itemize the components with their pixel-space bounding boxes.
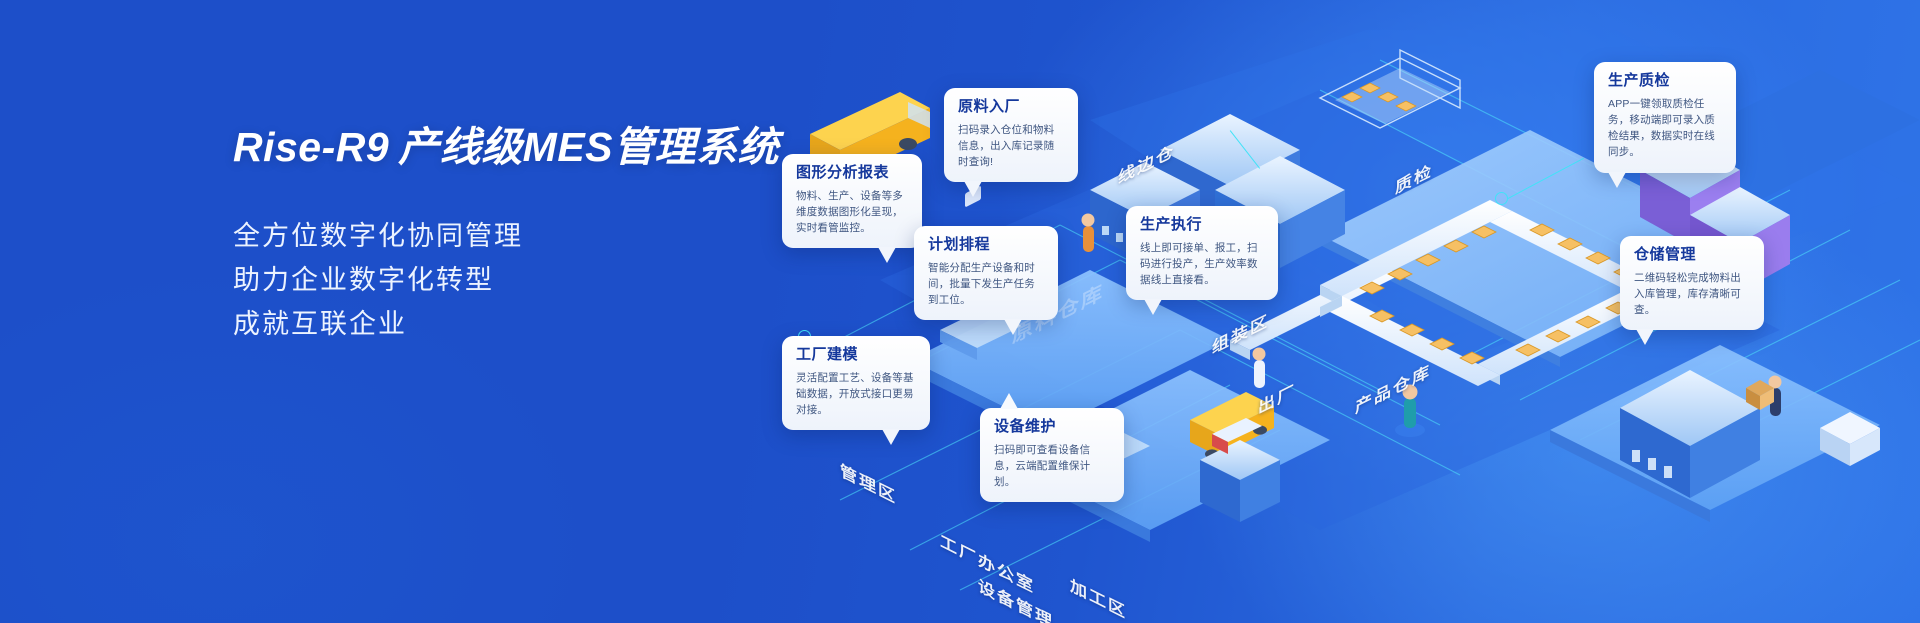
callout-tail-raw-material-inbound [964, 181, 982, 197]
callout-body-production-execution: 线上即可接单、报工，扫码进行投产，生产效率数据线上直接看。 [1140, 240, 1264, 289]
callout-tail-production-execution [1144, 299, 1162, 315]
callout-title-production-execution: 生产执行 [1140, 217, 1264, 234]
callout-graphic-report[interactable]: 图形分析报表 物料、生产、设备等多维度数据图形化呈现，实时看管监控。 [782, 154, 922, 248]
callout-tail-warehouse-management [1636, 329, 1654, 345]
callout-tail-equipment-maintenance [1000, 393, 1018, 409]
callout-title-equipment-maintenance: 设备维护 [994, 419, 1110, 436]
callout-warehouse-management[interactable]: 仓储管理 二维码轻松完成物料出入库管理，库存清晰可查。 [1620, 236, 1764, 330]
headline-latin: Rise-R9 [233, 124, 389, 170]
callout-production-quality-inspection[interactable]: 生产质检 APP一键领取质检任务，移动端即可录入质检结果，数据实时在线同步。 [1594, 62, 1736, 173]
callout-body-plan-scheduling: 智能分配生产设备和时间，批量下发生产任务到工位。 [928, 260, 1044, 309]
callout-title-raw-material-inbound: 原料入厂 [958, 99, 1064, 116]
callout-tail-plan-scheduling [1004, 319, 1022, 335]
mes-hero-banner: Rise-R9产线级MES管理系统 全方位数字化协同管理 助力企业数字化转型 成… [0, 0, 1920, 623]
callout-title-factory-modeling: 工厂建模 [796, 347, 916, 364]
callout-body-equipment-maintenance: 扫码即可查看设备信息，云端配置维保计划。 [994, 442, 1110, 491]
callout-body-factory-modeling: 灵活配置工艺、设备等基础数据，开放式接口更易对接。 [796, 370, 916, 419]
callout-title-warehouse-management: 仓储管理 [1634, 247, 1750, 264]
callout-title-production-quality-inspection: 生产质检 [1608, 73, 1722, 90]
callout-body-warehouse-management: 二维码轻松完成物料出入库管理，库存清晰可查。 [1634, 270, 1750, 319]
headline-cjk: 产线级MES管理系统 [398, 124, 779, 170]
callout-title-plan-scheduling: 计划排程 [928, 237, 1044, 254]
callout-raw-material-inbound[interactable]: 原料入厂 扫码录入仓位和物料信息，出入库记录随时查询! [944, 88, 1078, 182]
callout-body-graphic-report: 物料、生产、设备等多维度数据图形化呈现，实时看管监控。 [796, 188, 908, 237]
callout-plan-scheduling[interactable]: 计划排程 智能分配生产设备和时间，批量下发生产任务到工位。 [914, 226, 1058, 320]
callout-production-execution[interactable]: 生产执行 线上即可接单、报工，扫码进行投产，生产效率数据线上直接看。 [1126, 206, 1278, 300]
callout-title-graphic-report: 图形分析报表 [796, 165, 908, 182]
callout-body-raw-material-inbound: 扫码录入仓位和物料信息，出入库记录随时查询! [958, 122, 1064, 171]
callout-tail-production-quality-inspection [1608, 172, 1626, 188]
callout-tail-factory-modeling [882, 429, 900, 445]
callout-factory-modeling[interactable]: 工厂建模 灵活配置工艺、设备等基础数据，开放式接口更易对接。 [782, 336, 930, 430]
callout-equipment-maintenance[interactable]: 设备维护 扫码即可查看设备信息，云端配置维保计划。 [980, 408, 1124, 502]
callout-tail-graphic-report [878, 247, 896, 263]
callout-body-production-quality-inspection: APP一键领取质检任务，移动端即可录入质检结果，数据实时在线同步。 [1608, 96, 1722, 161]
leader-node-quality [1495, 192, 1508, 205]
